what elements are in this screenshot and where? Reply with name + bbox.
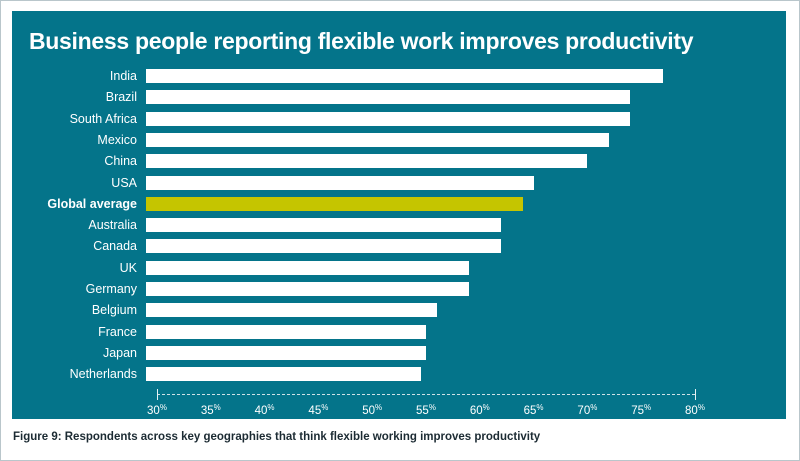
x-axis-tick-label: 55% [416,403,436,417]
bar-label: Germany [12,280,137,298]
bar-fill [146,239,501,253]
x-axis-tick-label: 70% [577,403,597,417]
bar-label: Japan [12,344,137,362]
bar-label: USA [12,174,137,192]
bar-track [146,69,786,83]
x-axis-tick-start [157,389,158,400]
bar-track [146,176,786,190]
bar-fill [146,346,426,360]
bar-row: Netherlands [12,367,786,381]
x-axis-tick-label: 45% [308,403,328,417]
bar-track [146,90,786,104]
bar-label: Belgium [12,301,137,319]
bar-fill [146,261,469,275]
bar-row: China [12,154,786,168]
bar-fill [146,69,663,83]
bar-row: Australia [12,218,786,232]
bar-fill [146,176,534,190]
bar-row: India [12,69,786,83]
bar-fill [146,112,630,126]
figure-container: Business people reporting flexible work … [0,0,800,461]
bar-label: UK [12,259,137,277]
bar-label: France [12,323,137,341]
bar-row: Mexico [12,133,786,147]
bar-track [146,303,786,317]
bar-row: UK [12,261,786,275]
bar-row: Belgium [12,303,786,317]
bar-label: Mexico [12,131,137,149]
bar-label: South Africa [12,110,137,128]
x-axis-tick-label: 50% [362,403,382,417]
bar-row: Germany [12,282,786,296]
bar-track [146,239,786,253]
bar-row: USA [12,176,786,190]
bar-row: Japan [12,346,786,360]
bar-row: Global average [12,197,786,211]
bar-label: Canada [12,237,137,255]
bar-fill [146,90,630,104]
bar-label: Netherlands [12,365,137,383]
bar-fill [146,303,437,317]
x-axis-tick-label: 40% [255,403,275,417]
bar-row: Brazil [12,90,786,104]
bar-label: India [12,67,137,85]
plot-area: IndiaBrazilSouth AfricaMexicoChinaUSAGlo… [12,63,786,419]
bar-track [146,261,786,275]
x-axis-tick-label: 35% [201,403,221,417]
bar-track [146,346,786,360]
bar-label: Australia [12,216,137,234]
bar-track [146,197,786,211]
bar-track [146,367,786,381]
bar-track [146,133,786,147]
bar-track [146,325,786,339]
bar-fill [146,218,501,232]
bar-label: China [12,152,137,170]
bar-label: Global average [12,195,137,213]
x-axis-tick-label: 60% [470,403,490,417]
bar-track [146,112,786,126]
bar-label: Brazil [12,88,137,106]
x-axis-tick-end [695,389,696,400]
bar-track [146,218,786,232]
bar-fill [146,367,421,381]
bar-fill [146,282,469,296]
bar-fill-highlighted [146,197,523,211]
bar-track [146,154,786,168]
bar-fill [146,154,587,168]
x-axis-line [157,394,695,395]
bar-row: Canada [12,239,786,253]
bar-row: South Africa [12,112,786,126]
x-axis-tick-label: 65% [524,403,544,417]
bar-fill [146,133,609,147]
bar-fill [146,325,426,339]
x-axis-tick-label: 80% [685,403,705,417]
figure-caption: Figure 9: Respondents across key geograp… [13,431,783,443]
x-axis-tick-label: 75% [631,403,651,417]
x-axis-tick-label: 30% [147,403,167,417]
chart-panel: Business people reporting flexible work … [12,11,786,419]
bar-row: France [12,325,786,339]
chart-title: Business people reporting flexible work … [29,28,774,55]
bar-track [146,282,786,296]
